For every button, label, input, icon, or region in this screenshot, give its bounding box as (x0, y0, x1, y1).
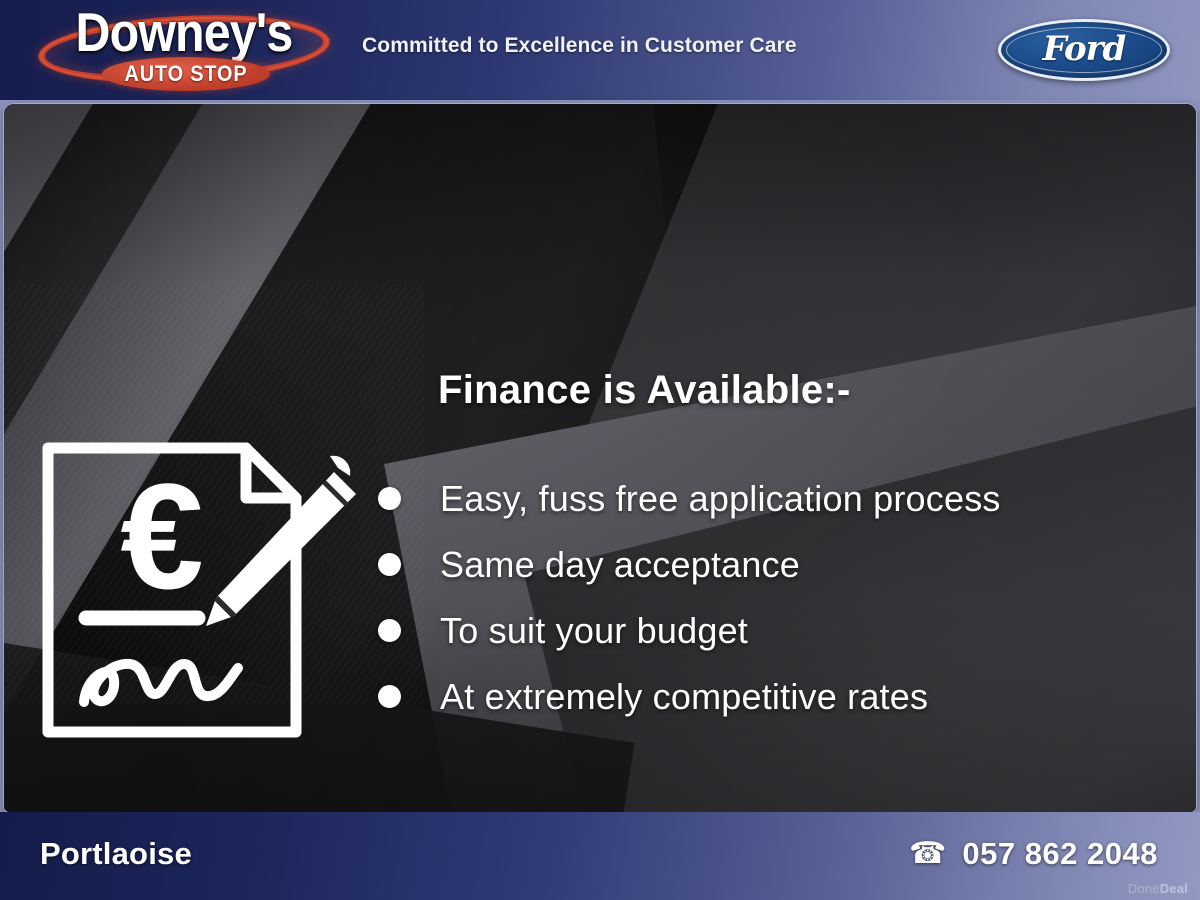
euro-document-signature-pen-icon: € (34, 430, 364, 750)
bullet-dot-icon (378, 487, 401, 510)
telephone-icon: ☎ (909, 837, 946, 871)
watermark-suffix: Deal (1160, 881, 1188, 896)
bullet-dot-icon (378, 685, 401, 708)
list-item: To suit your budget (378, 598, 1168, 664)
header-bar: Downey's AUTO STOP Committed to Excellen… (0, 0, 1200, 100)
list-item-label: To suit your budget (440, 610, 748, 652)
list-item: Same day acceptance (378, 532, 1168, 598)
phone-number[interactable]: 057 862 2048 (962, 836, 1158, 872)
watermark-prefix: Done (1128, 881, 1160, 896)
header-tagline: Committed to Excellence in Customer Care (362, 34, 797, 58)
ford-logo[interactable]: Ford (998, 19, 1170, 81)
location-label: Portlaoise (40, 836, 192, 872)
list-item-label: Easy, fuss free application process (440, 478, 1001, 520)
page-title: Finance is Available:- (438, 368, 851, 413)
benefits-list: Easy, fuss free application process Same… (378, 466, 1168, 730)
site-watermark: DoneDeal (1128, 881, 1188, 896)
signature-squiggle (84, 664, 238, 702)
list-item: At extremely competitive rates (378, 664, 1168, 730)
dealer-tagline-auto-stop: AUTO STOP (110, 57, 261, 91)
dealer-logo[interactable]: Downey's AUTO STOP (34, 2, 334, 98)
advert-banner: Downey's AUTO STOP Committed to Excellen… (0, 0, 1200, 900)
main-image-panel: € Finance is Available:- Easy, fuss free… (4, 104, 1196, 812)
footer-bar: Portlaoise ☎ 057 862 2048 DoneDeal (0, 812, 1200, 900)
euro-symbol: € (120, 452, 203, 620)
list-item-label: At extremely competitive rates (440, 676, 928, 718)
dealer-name: Downey's (52, 2, 316, 62)
list-item-label: Same day acceptance (440, 544, 800, 586)
ford-wordmark: Ford (998, 19, 1170, 81)
list-item: Easy, fuss free application process (378, 466, 1168, 532)
bullet-dot-icon (378, 619, 401, 642)
phone-contact[interactable]: ☎ 057 862 2048 (909, 836, 1158, 872)
bullet-dot-icon (378, 553, 401, 576)
